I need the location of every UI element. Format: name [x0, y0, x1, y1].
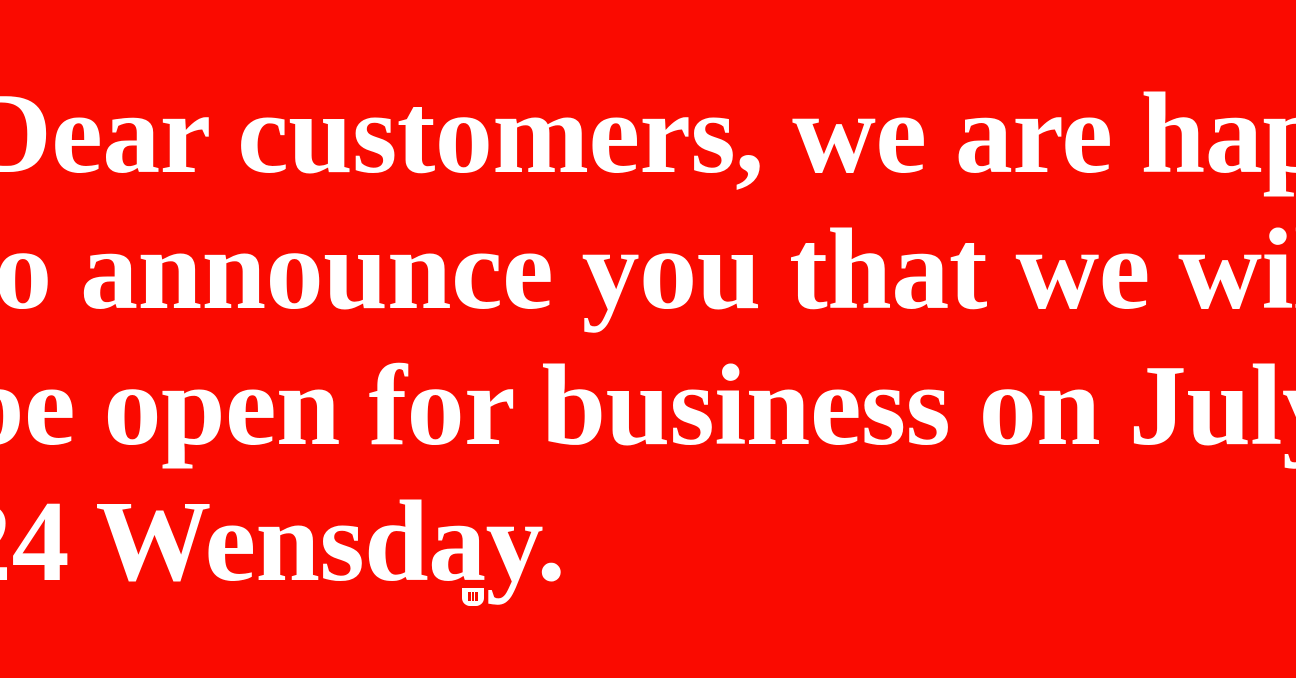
announcement-line-3: be open for business on July — [0, 338, 1296, 474]
announcement-line-2: to announce you that we will — [0, 202, 1296, 338]
announcement-line-1: Dear customers, we are happy — [0, 66, 1296, 202]
descender-flourish-icon — [462, 588, 484, 606]
announcement-text: Dear customers, we are happy to announce… — [0, 66, 1296, 610]
announcement-line-4: 24 Wensday. — [0, 474, 1296, 610]
announcement-banner: Dear customers, we are happy to announce… — [0, 0, 1296, 678]
